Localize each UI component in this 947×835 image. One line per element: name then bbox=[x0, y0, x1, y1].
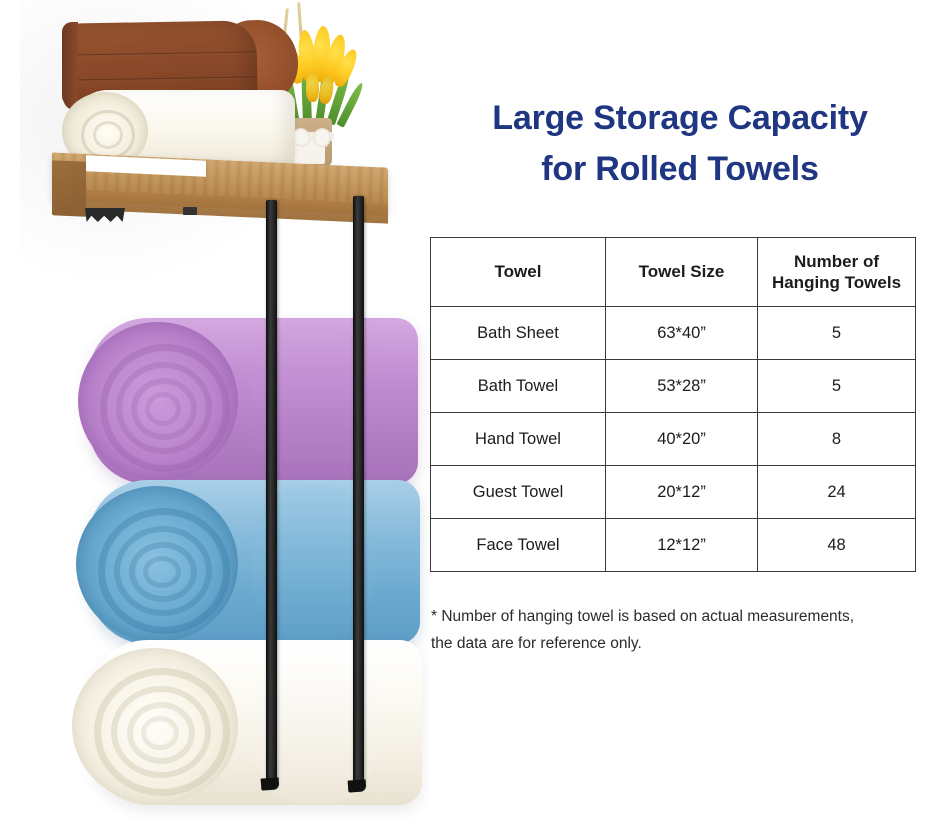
column-header-towel-size: Towel Size bbox=[606, 238, 758, 307]
info-panel: Large Storage Capacity for Rolled Towels… bbox=[430, 0, 947, 835]
cell-towel-name: Bath Sheet bbox=[431, 307, 606, 360]
cell-towel-name: Face Towel bbox=[431, 519, 606, 572]
column-header-towel: Towel bbox=[431, 238, 606, 307]
cell-hanging-count: 8 bbox=[758, 413, 916, 466]
wall-mount-bracket-right bbox=[183, 207, 197, 215]
column-header-hanging-count-line1: Number of bbox=[758, 251, 915, 272]
cell-towel-size: 63*40” bbox=[606, 307, 758, 360]
cell-hanging-count: 24 bbox=[758, 466, 916, 519]
table-row: Bath Towel 53*28” 5 bbox=[431, 360, 916, 413]
footnote: * Number of hanging towel is based on ac… bbox=[431, 604, 921, 657]
table-row: Hand Towel 40*20” 8 bbox=[431, 413, 916, 466]
cell-towel-name: Hand Towel bbox=[431, 413, 606, 466]
table-row: Guest Towel 20*12” 24 bbox=[431, 466, 916, 519]
cell-towel-name: Bath Towel bbox=[431, 360, 606, 413]
cell-towel-size: 20*12” bbox=[606, 466, 758, 519]
cell-towel-size: 53*28” bbox=[606, 360, 758, 413]
cell-towel-size: 40*20” bbox=[606, 413, 758, 466]
page-title: Large Storage Capacity for Rolled Towels bbox=[430, 93, 930, 195]
cell-hanging-count: 48 bbox=[758, 519, 916, 572]
column-header-hanging-count: Number of Hanging Towels bbox=[758, 238, 916, 307]
cell-hanging-count: 5 bbox=[758, 307, 916, 360]
cell-towel-size: 12*12” bbox=[606, 519, 758, 572]
cell-towel-name: Guest Towel bbox=[431, 466, 606, 519]
towel-capacity-table: Towel Towel Size Number of Hanging Towel… bbox=[430, 237, 916, 572]
product-photo bbox=[0, 0, 430, 835]
title-line-1: Large Storage Capacity bbox=[492, 99, 867, 137]
table-row: Bath Sheet 63*40” 5 bbox=[431, 307, 916, 360]
cell-hanging-count: 5 bbox=[758, 360, 916, 413]
product-infographic: Large Storage Capacity for Rolled Towels… bbox=[0, 0, 947, 835]
title-line-2: for Rolled Towels bbox=[430, 144, 930, 195]
footnote-line-1: * Number of hanging towel is based on ac… bbox=[431, 604, 921, 631]
table-row: Face Towel 12*12” 48 bbox=[431, 519, 916, 572]
column-header-hanging-count-line2: Hanging Towels bbox=[758, 272, 915, 293]
table-header-row: Towel Towel Size Number of Hanging Towel… bbox=[431, 238, 916, 307]
footnote-line-2: the data are for reference only. bbox=[431, 631, 921, 658]
